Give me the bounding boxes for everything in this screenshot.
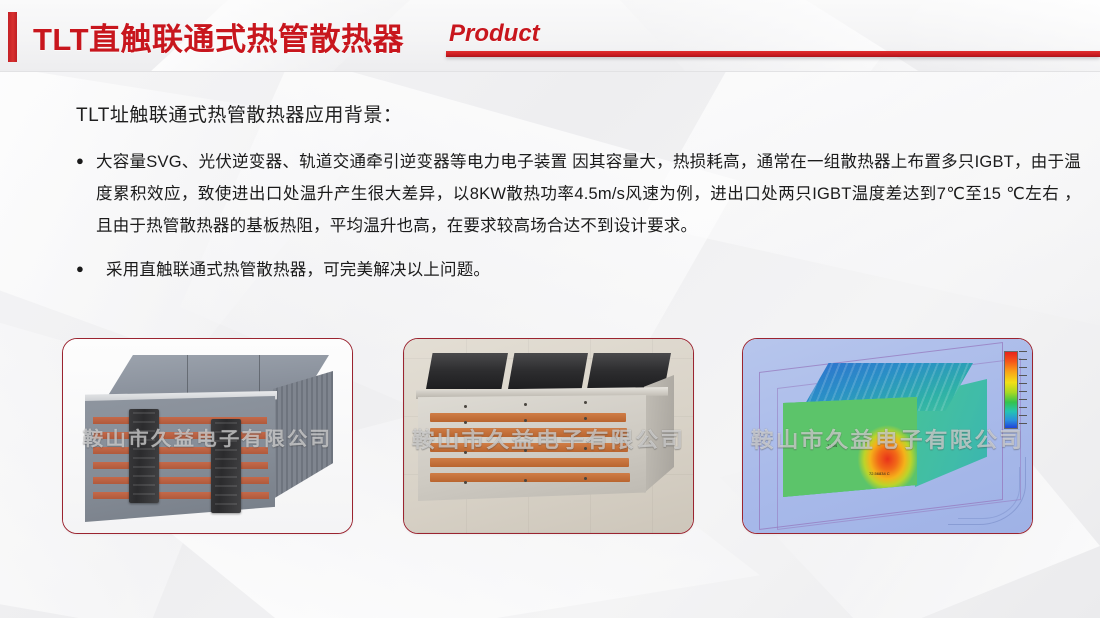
page-title: TLT直触联通式热管散热器 <box>33 14 404 59</box>
list-item: ● 采用直触联通式热管散热器，可完美解决以上问题。 <box>76 254 1081 286</box>
copper-strip <box>430 428 627 437</box>
section-subtitle: TLT址触联通式热管散热器应用背景： <box>76 100 402 127</box>
screw <box>524 403 527 406</box>
screw <box>524 449 527 452</box>
copper-strip <box>430 458 629 467</box>
bullet-list: ● 大容量SVG、光伏逆变器、轨道交通牵引逆变器等电力电子装置 因其容量大，热损… <box>76 146 1081 286</box>
figure-image: 鞍山市久益电子有限公司 <box>404 339 693 533</box>
screw <box>584 477 587 480</box>
heatpipe-cover <box>426 353 508 389</box>
heatpipe-cover <box>508 353 588 389</box>
screw <box>464 405 467 408</box>
figure-thermal-simulation[interactable]: 71.04 72.56834 C 鞍山市久益电子有限公司 <box>742 338 1033 534</box>
screw <box>524 419 527 422</box>
screw <box>464 421 467 424</box>
header-facet <box>870 0 1100 72</box>
page-title-english: Product <box>449 20 540 48</box>
figure-image: 鞍山市久益电子有限公司 <box>63 339 352 533</box>
heatpipe-cover-group <box>426 353 666 389</box>
slide-header: TLT直触联通式热管散热器 Product <box>0 0 1100 72</box>
copper-strip <box>430 443 628 452</box>
copper-bar <box>93 447 268 454</box>
title-underline-rule <box>446 51 1100 57</box>
cfd-legend-ticks <box>1019 351 1027 431</box>
bullet-text: 采用直触联通式热管散热器，可完美解决以上问题。 <box>96 254 1081 286</box>
cfd-front-temperature-field <box>783 397 917 497</box>
title-accent-bar <box>8 12 17 62</box>
bullet-marker-icon: ● <box>76 146 96 176</box>
slide-canvas: TLT直触联通式热管散热器 Product TLT址触联通式热管散热器应用背景：… <box>0 0 1100 618</box>
figure-image: 71.04 72.56834 C 鞍山市久益电子有限公司 <box>743 339 1032 533</box>
cfd-probe-label: 72.56834 C <box>869 471 890 476</box>
figure-product-photo[interactable]: 鞍山市久益电子有限公司 <box>403 338 694 534</box>
screw <box>464 481 467 484</box>
screw <box>584 447 587 450</box>
bullet-marker-icon: ● <box>76 254 96 284</box>
copper-strip <box>430 473 630 482</box>
copper-bar <box>93 462 268 469</box>
screw <box>584 401 587 404</box>
figure-cad-render[interactable]: 鞍山市久益电子有限公司 <box>62 338 353 534</box>
cfd-legend-colorbar <box>1004 351 1018 429</box>
bullet-text: 大容量SVG、光伏逆变器、轨道交通牵引逆变器等电力电子装置 因其容量大，热损耗高… <box>96 146 1081 242</box>
copper-strip <box>430 413 626 422</box>
heatpipe-block <box>129 409 159 503</box>
header-facet <box>620 0 920 72</box>
cfd-probe-label: 71.04 <box>827 443 837 448</box>
list-item: ● 大容量SVG、光伏逆变器、轨道交通牵引逆变器等电力电子装置 因其容量大，热损… <box>76 146 1081 242</box>
cad-front-face <box>85 396 275 522</box>
copper-bar <box>93 492 269 499</box>
screw <box>464 451 467 454</box>
copper-bar <box>93 477 269 484</box>
screw <box>584 417 587 420</box>
screw <box>524 479 527 482</box>
heatpipe-block <box>211 419 241 513</box>
